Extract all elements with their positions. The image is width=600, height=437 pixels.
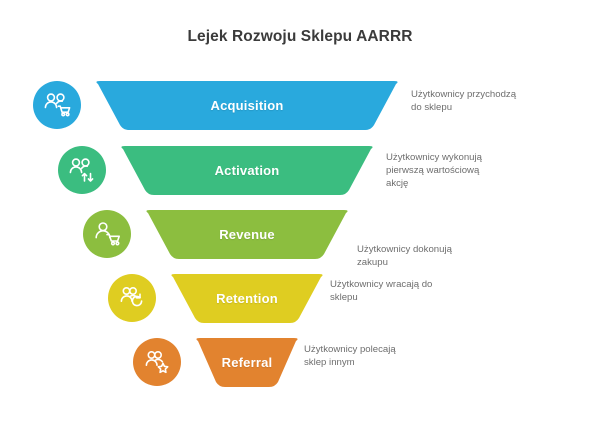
users-star-icon <box>133 338 181 386</box>
funnel-stage-label: Referral <box>222 355 273 370</box>
user-cart-icon <box>83 210 131 258</box>
funnel-bar-revenue: Revenue <box>144 210 350 259</box>
funnel-stage-label: Retention <box>216 291 278 306</box>
funnel-stage-referral: Referral Użytkownicy polecają sklep inny… <box>0 338 600 396</box>
users-arrows-icon <box>58 146 106 194</box>
funnel-bar-activation: Activation <box>119 146 375 195</box>
funnel-stage-description: Użytkownicy wracają do sklepu <box>330 278 432 304</box>
funnel-bar-retention: Retention <box>169 274 325 323</box>
funnel-stage-description: Użytkownicy polecają sklep innym <box>304 343 396 369</box>
funnel-stage-activation: Activation Użytkownicy wykonują pierwszą… <box>0 146 600 204</box>
funnel-stage-acquisition: Acquisition Użytkownicy przychodzą do sk… <box>0 81 600 139</box>
users-cart-icon <box>33 81 81 129</box>
funnel-bar-referral: Referral <box>194 338 300 387</box>
users-refresh-icon <box>108 274 156 322</box>
funnel-stage-retention: Retention Użytkownicy wracają do sklepu <box>0 274 600 332</box>
funnel-bar-acquisition: Acquisition <box>94 81 400 130</box>
funnel-stage-label: Activation <box>215 163 280 178</box>
funnel-stage-revenue: Revenue Użytkownicy dokonują zakupu <box>0 210 600 268</box>
funnel-diagram: Acquisition Użytkownicy przychodzą do sk… <box>0 0 600 437</box>
funnel-stage-description: Użytkownicy dokonują zakupu <box>357 243 452 269</box>
funnel-stage-description: Użytkownicy wykonują pierwszą wartościow… <box>386 151 482 191</box>
funnel-stage-label: Acquisition <box>211 98 284 113</box>
funnel-stage-label: Revenue <box>219 227 275 242</box>
funnel-stage-description: Użytkownicy przychodzą do sklepu <box>411 88 516 114</box>
